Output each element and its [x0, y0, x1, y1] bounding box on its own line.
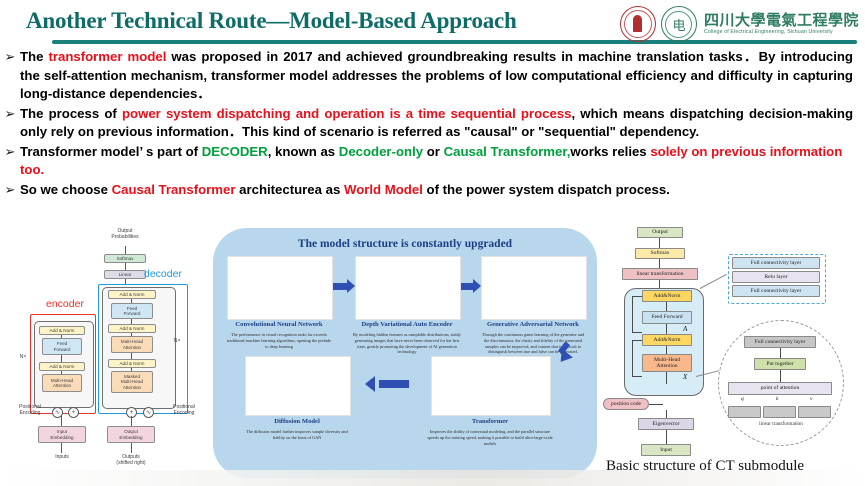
arrow-left-icon — [379, 380, 409, 388]
input-embedding-box: InputEmbedding — [38, 426, 86, 443]
decoder-label: decoder — [144, 268, 182, 280]
ct-label-x: X — [683, 373, 687, 381]
text-run: Decoder-only — [339, 144, 423, 159]
text-run: or — [423, 144, 444, 159]
card-image-gan — [481, 256, 587, 320]
connector — [61, 371, 62, 374]
outputs-label: Outputs(shifted right) — [108, 454, 154, 466]
college-seal-icon — [661, 6, 697, 42]
ct-output-box: Output — [637, 227, 683, 238]
decoder-add-norm-bottom: Add & Norm — [108, 359, 156, 368]
connector — [666, 372, 667, 384]
list-item: ➢ Transformer model’ s part of DECODER, … — [0, 143, 865, 180]
connector — [666, 430, 667, 444]
ct-add-norm-top: Add&Norm — [642, 290, 692, 302]
text-run: The — [20, 49, 48, 64]
connector — [659, 259, 660, 268]
text-run: transformer model — [48, 49, 166, 64]
connector — [666, 302, 667, 311]
list-item: ➢ So we choose Causal Transformer archit… — [0, 181, 865, 200]
connector — [61, 335, 62, 338]
ct-eigenvector-box: Eigenvector — [638, 418, 694, 430]
text-run: Transformer model’ s part of — [20, 144, 202, 159]
ct-softmax-box: Softmax — [635, 248, 685, 259]
residual-connector — [632, 332, 642, 333]
bullet-arrow-icon: ➢ — [0, 181, 20, 200]
attn-linear-k — [763, 406, 796, 418]
connector — [666, 346, 667, 354]
decoder-nx-label: N× — [170, 338, 184, 344]
bullet-text-2: Transformer model’ s part of DECODER, kn… — [20, 143, 865, 180]
text-run: of the power system dispatch process. — [423, 182, 670, 197]
card-desc-gan: Through the continuous game learning of … — [479, 332, 587, 355]
output-embedding-box: OutputEmbedding — [107, 426, 155, 443]
decoder-add-norm-top: Add & Norm — [108, 290, 156, 299]
card-image-vae — [355, 256, 461, 320]
card-caption-cnn: Convolutional Neural Network — [227, 321, 331, 328]
sichuan-university-seal-icon — [620, 6, 656, 42]
text-run: Causal Transformer, — [444, 144, 571, 159]
text-run: power system dispatching and operation i… — [122, 106, 572, 121]
text-run: So we choose — [20, 182, 112, 197]
page-title: Another Technical Route—Model-Based Appr… — [26, 8, 517, 34]
card-caption-gan: Generative Adversarial Network — [481, 321, 585, 328]
ct-multi-head-attention-box: Multi-HeadAttention — [642, 354, 692, 372]
card-image-diffusion — [245, 356, 351, 416]
logo-wordmark: 四川大學電氣工程學院 College of Electrical Enginee… — [704, 13, 859, 36]
positional-encoding-left-label: PositionalEncoding — [8, 404, 52, 416]
bullet-list: ➢ The transformer model was proposed in … — [0, 48, 865, 226]
ct-position-code-box: position code — [603, 398, 649, 410]
ct-linear-transformation-box: linear transformation — [622, 268, 698, 280]
arrow-right-icon — [333, 283, 347, 290]
ct-submodule-diagram: Output Softmax linear transformation Add… — [600, 226, 862, 484]
connector — [666, 410, 667, 418]
text-run: DECODER — [202, 144, 268, 159]
connector — [131, 416, 132, 426]
connector — [659, 238, 660, 248]
residual-connector — [632, 340, 642, 341]
connector — [61, 416, 62, 426]
add-operator-icon: + — [68, 407, 79, 418]
bottom-texture-band — [0, 470, 865, 486]
list-item: ➢ The process of power system dispatchin… — [0, 105, 865, 142]
logo-chinese-name: 四川大學電氣工程學院 — [704, 13, 859, 29]
evolution-panel-title: The model structure is constantly upgrad… — [213, 238, 597, 250]
card-desc-diffusion: The diffusion model further improves sam… — [241, 429, 353, 441]
slide-header: Another Technical Route—Model-Based Appr… — [0, 0, 865, 46]
ffn-full-connectivity-layer-1: Full connectivity layer — [732, 257, 820, 269]
model-evolution-panel: The model structure is constantly upgrad… — [213, 228, 597, 478]
ffn-relu-layer: Relu layer — [732, 271, 820, 283]
text-run: , known as — [268, 144, 339, 159]
attn-linear-transformation-label: linear transformation — [740, 421, 822, 427]
connector — [125, 263, 126, 270]
connector — [131, 333, 132, 336]
encoder-add-norm-bottom: Add & Norm — [39, 362, 85, 371]
text-run: World Model — [344, 182, 423, 197]
arrow-right-icon — [347, 279, 355, 293]
bullet-text-3: So we choose Causal Transformer architec… — [20, 181, 865, 200]
attn-point-of-attention: point of attention — [728, 382, 832, 395]
bullet-text-1: The process of power system dispatching … — [20, 105, 865, 142]
encoder-nx-label: N× — [16, 354, 30, 360]
text-run: The process of — [20, 106, 122, 121]
slide: Another Technical Route—Model-Based Appr… — [0, 0, 865, 486]
residual-connector — [632, 296, 633, 332]
decoder-masked-multi-head-attention: MaskedMulti-HeadAttention — [111, 371, 153, 393]
decoder-feed-forward: FeedForward — [111, 303, 153, 319]
connector — [125, 246, 126, 254]
connector — [131, 368, 132, 371]
attn-v-label: v — [810, 396, 812, 402]
ffn-full-connectivity-layer-2: Full connectivity layer — [732, 285, 820, 297]
bullet-arrow-icon: ➢ — [0, 143, 20, 162]
bullet-arrow-icon: ➢ — [0, 48, 20, 67]
card-caption-transformer: Transformer — [431, 418, 549, 425]
card-caption-diffusion: Diffusion Model — [245, 418, 349, 425]
text-run: Causal Transformer — [112, 182, 236, 197]
decoder-add-norm-mid: Add & Norm — [108, 324, 156, 333]
logo-english-name: College of Electrical Engineering, Sichu… — [704, 29, 859, 35]
inputs-label: Inputs — [42, 454, 82, 460]
softmax-box: Softmax — [104, 254, 146, 263]
card-desc-transformer: Improves the ability of contextual model… — [427, 429, 553, 446]
connector — [780, 348, 781, 358]
text-run: architecturea as — [235, 182, 344, 197]
encoder-multi-head-attention: Multi-HeadAttention — [42, 374, 82, 392]
connector — [649, 404, 663, 405]
encoder-add-norm-top: Add & Norm — [39, 326, 85, 335]
encoder-feed-forward: FeedForward — [42, 338, 82, 355]
card-image-transformer — [431, 356, 551, 416]
connector — [61, 355, 62, 362]
connector — [131, 443, 132, 453]
callout-line — [700, 274, 727, 289]
ct-input-box: Input — [641, 444, 691, 456]
connector — [780, 370, 781, 382]
arrow-right-icon — [473, 279, 481, 293]
text-run: works relies — [570, 144, 650, 159]
institution-logos: 四川大學電氣工程學院 College of Electrical Enginee… — [620, 4, 859, 44]
arrow-right-icon — [461, 283, 473, 290]
connector — [61, 443, 62, 453]
connector — [131, 299, 132, 303]
bullet-text-0: The transformer model was proposed in 20… — [20, 48, 865, 104]
attn-k-label: k — [776, 396, 778, 402]
residual-connector — [632, 376, 642, 377]
encoder-label: encoder — [46, 298, 84, 310]
attn-put-together: Put together — [754, 358, 806, 370]
card-desc-vae: By modeling hidden features as samplable… — [353, 332, 461, 355]
attn-full-connectivity-layer: Full connectivity layer — [744, 336, 816, 348]
attn-linear-q — [728, 406, 761, 418]
bullet-arrow-icon: ➢ — [0, 105, 20, 124]
positional-encoding-right-label: PositionalEncoding — [162, 404, 206, 416]
connector — [131, 353, 132, 359]
residual-connector — [632, 340, 633, 376]
ct-label-a: A — [683, 325, 687, 333]
ct-add-norm-bottom: Add&Norm — [642, 334, 692, 346]
residual-connector — [632, 296, 642, 297]
arrow-left-icon — [365, 376, 375, 392]
linear-box: Linear — [104, 270, 146, 279]
list-item: ➢ The transformer model was proposed in … — [0, 48, 865, 104]
sine-wave-icon: ∿ — [143, 407, 154, 418]
ct-feed-forward-box: Feed Forward — [642, 311, 692, 324]
attn-q-label: q — [741, 396, 744, 402]
connector — [131, 319, 132, 324]
card-desc-cnn: The performance in visual recognition ta… — [225, 332, 333, 349]
connector — [666, 324, 667, 334]
card-image-cnn — [227, 256, 333, 320]
figure-row: OutputProbabilities Softmax Linear decod… — [0, 226, 865, 486]
decoder-multi-head-attention: Multi-HeadAttention — [111, 336, 153, 353]
output-probabilities-label: OutputProbabilities — [97, 228, 153, 240]
attn-linear-v — [798, 406, 831, 418]
card-caption-vae: Depth Variational Auto Encoder — [355, 321, 459, 328]
transformer-architecture-diagram: OutputProbabilities Softmax Linear decod… — [4, 226, 212, 481]
